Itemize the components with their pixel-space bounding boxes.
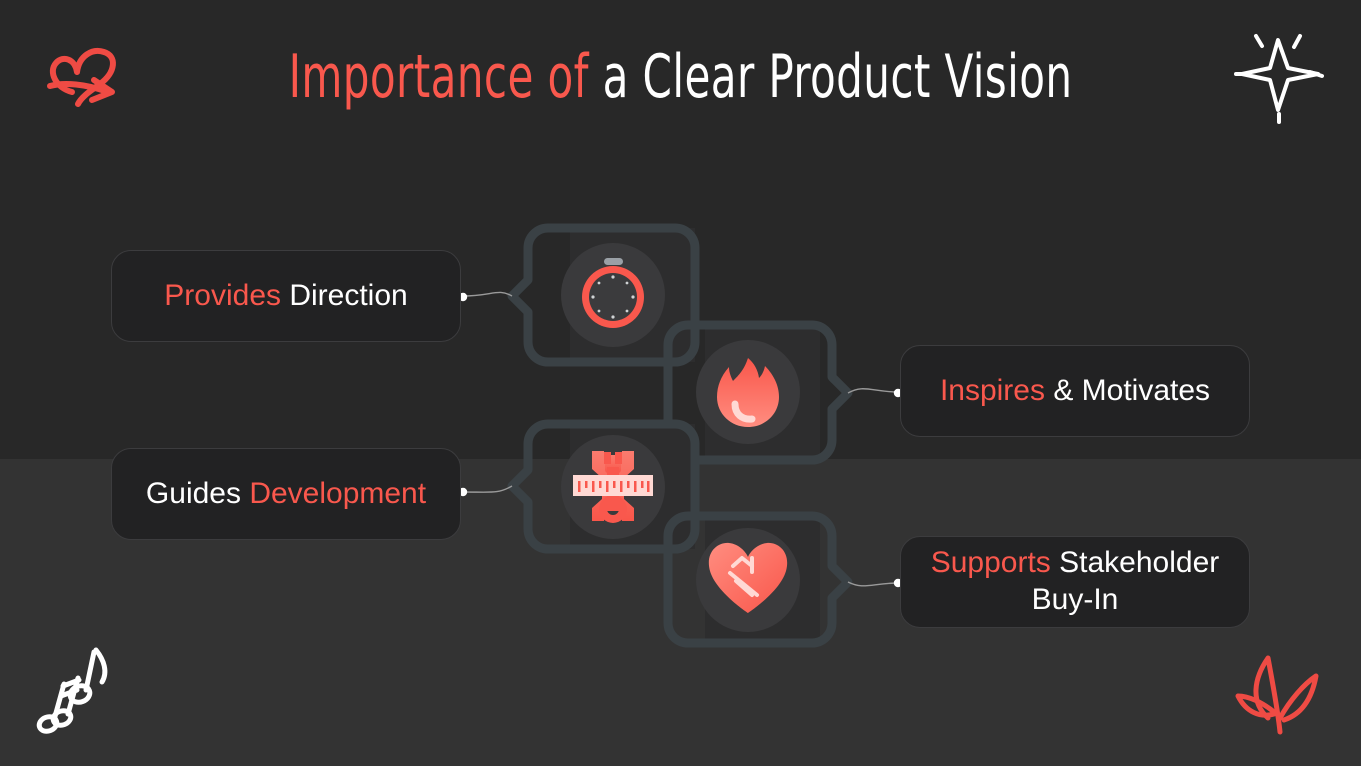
- label-provides-direction[interactable]: Provides Direction: [111, 250, 461, 342]
- connector-provides-direction: [463, 292, 512, 296]
- label-plain-text: Direction: [281, 279, 408, 312]
- label-accent-text: Supports: [931, 546, 1051, 579]
- slide-canvas: Importance of a Clear Product Vision: [0, 0, 1361, 766]
- connector-guides-development: [463, 486, 512, 492]
- connector-supports-buyin: [848, 582, 899, 586]
- label-accent-text: Provides: [164, 279, 281, 312]
- connector-inspires-motivates: [848, 389, 899, 393]
- label-accent-text: Development: [249, 477, 426, 510]
- label-accent-text: Inspires: [940, 374, 1045, 407]
- label-inspires-motivates[interactable]: Inspires & Motivates: [900, 345, 1250, 437]
- label-plain-text: Guides: [146, 477, 249, 510]
- label-plain-text-line2: Buy-In: [1032, 583, 1119, 616]
- label-supports-stakeholder-buyin[interactable]: Supports Stakeholder Buy-In: [900, 536, 1250, 628]
- label-plain-text: Stakeholder: [1051, 546, 1219, 579]
- label-plain-text: & Motivates: [1045, 374, 1210, 407]
- label-guides-development[interactable]: Guides Development: [111, 448, 461, 540]
